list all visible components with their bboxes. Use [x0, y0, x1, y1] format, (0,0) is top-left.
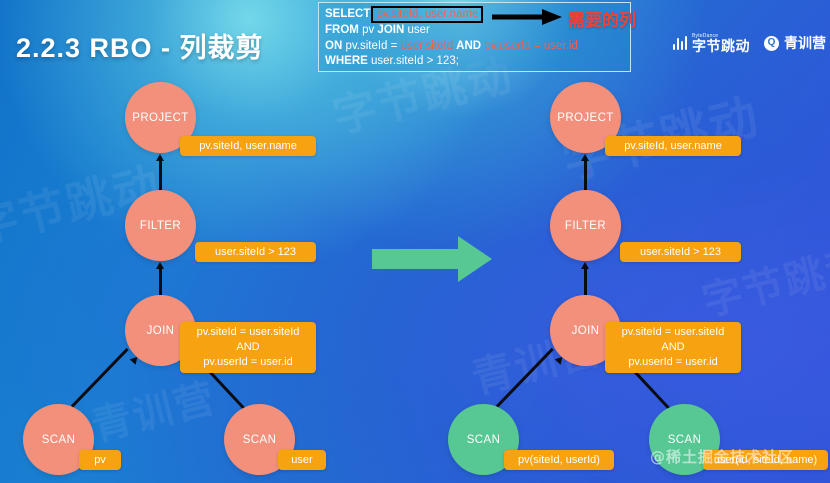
tag-join-condition-right: pv.siteId = user.siteId AND pv.userId = …	[605, 322, 741, 373]
node-label: FILTER	[565, 220, 606, 232]
black-pointer-arrow-icon	[492, 9, 562, 25]
node-filter-left[interactable]: FILTER	[125, 190, 196, 261]
sql-where-condition: user.siteId > 123;	[371, 55, 459, 67]
tag-filter-condition-left: user.siteId > 123	[195, 242, 316, 262]
page-title: 2.2.3 RBO - 列裁剪	[16, 26, 264, 65]
tag-project-columns-left: pv.siteId, user.name	[180, 136, 316, 156]
edge-arrowhead-filter	[156, 262, 164, 269]
join-condition-line1: pv.siteId = user.siteId	[188, 325, 308, 340]
bytedance-name-cn: 字节跳动	[692, 39, 750, 53]
qingxunying-logo: Q 青训营	[764, 33, 826, 53]
logo-group: ByteDance 字节跳动 Q 青训营	[673, 33, 827, 53]
qingxunying-mark-icon: Q	[764, 36, 779, 51]
node-label: FILTER	[140, 220, 181, 232]
qingxunying-name-cn: 青训营	[784, 33, 826, 53]
qingxunying-mark-letter: Q	[768, 38, 776, 48]
node-label: SCAN	[467, 434, 501, 446]
bytedance-name-en: ByteDance	[692, 34, 750, 39]
node-label: JOIN	[147, 325, 175, 337]
node-label: PROJECT	[132, 112, 188, 124]
edge-arrowhead-project-right	[581, 154, 589, 161]
bytedance-text: ByteDance 字节跳动	[692, 34, 750, 53]
node-label: SCAN	[668, 434, 702, 446]
node-filter-right[interactable]: FILTER	[550, 190, 621, 261]
edge-arrowhead-filter-right	[581, 262, 589, 269]
sql-keyword-where: WHERE	[325, 55, 368, 67]
sql-keyword-on: ON	[325, 40, 342, 52]
tag-scan-pv-left: pv	[79, 450, 121, 470]
slide-canvas: 字节跳动 青训营 字节跳动 字节跳动 青训营 字节跳动 2.2.3 RBO - …	[0, 0, 830, 483]
join-condition-line1: pv.siteId = user.siteId	[613, 325, 733, 340]
sql-keyword-select: SELECT	[325, 8, 370, 20]
join-condition-line2: AND	[188, 340, 308, 355]
sql-line-where: WHERE user.siteId > 123;	[325, 54, 624, 70]
edge-arrowhead-project	[156, 154, 164, 161]
transition-arrow-icon	[372, 236, 492, 282]
node-label: SCAN	[243, 434, 277, 446]
background-watermark: 青训营	[85, 366, 221, 453]
sql-on-left: pv.siteId =	[345, 40, 400, 52]
bytedance-logo: ByteDance 字节跳动	[673, 34, 751, 53]
sql-highlighted-columns: pv.siteId, user.name	[371, 6, 483, 23]
annotation-required-columns: 需要的列	[568, 6, 636, 31]
join-condition-line3: pv.userId = user.id	[613, 355, 733, 370]
sql-table-user: user	[407, 24, 429, 36]
join-condition-line3: pv.userId = user.id	[188, 355, 308, 370]
community-watermark: @稀土掘金技术社区	[650, 446, 794, 467]
tag-filter-condition-right: user.siteId > 123	[620, 242, 741, 262]
node-label: PROJECT	[557, 112, 613, 124]
sql-keyword-join: JOIN	[377, 24, 404, 36]
node-label: SCAN	[42, 434, 76, 446]
tag-join-condition-left: pv.siteId = user.siteId AND pv.userId = …	[180, 322, 316, 373]
sql-line-on: ON pv.siteId = user.siteId AND pv.userId…	[325, 39, 624, 55]
tag-project-columns-right: pv.siteId, user.name	[605, 136, 741, 156]
sql-on-right: user.siteId	[401, 40, 453, 52]
tag-scan-user-left: user	[278, 450, 326, 470]
sql-keyword-and: AND	[456, 40, 481, 52]
node-label: JOIN	[572, 325, 600, 337]
sql-keyword-from: FROM	[325, 24, 359, 36]
tag-scan-pv-right: pv(siteId, userId)	[504, 450, 614, 470]
sql-on-second-condition: pv.userId = user.id	[484, 40, 577, 52]
join-condition-line2: AND	[613, 340, 733, 355]
sql-table-pv: pv	[362, 24, 374, 36]
bytedance-bars-icon	[673, 36, 688, 50]
